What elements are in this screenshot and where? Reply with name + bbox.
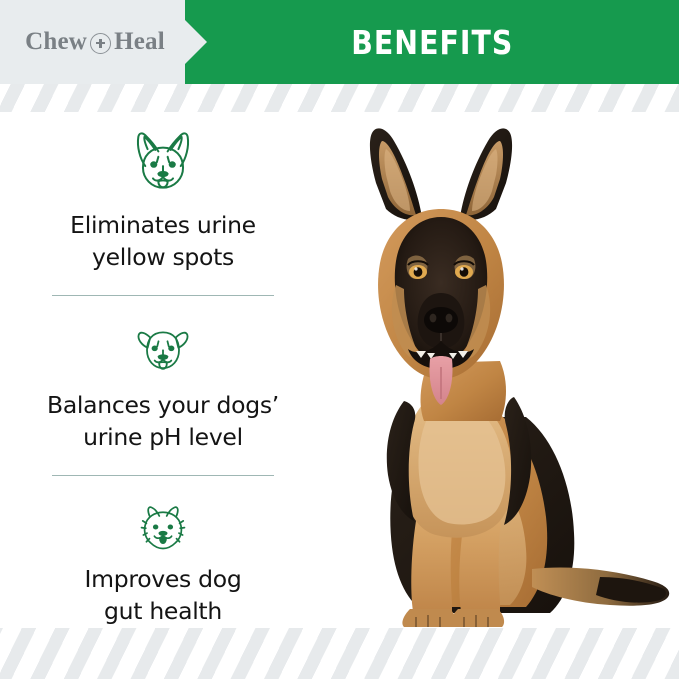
benefit-divider bbox=[52, 295, 274, 296]
benefit-item: Balances your dogs’ urine pH level bbox=[12, 318, 314, 476]
dog-illustration bbox=[300, 117, 679, 628]
benefit-line-1: Improves dog bbox=[85, 565, 242, 593]
logo-word-heal: Heal bbox=[114, 28, 165, 56]
benefit-line-2: urine pH level bbox=[83, 423, 243, 451]
stripe-band-bottom bbox=[0, 628, 679, 679]
benefit-text: Eliminates urine yellow spots bbox=[12, 210, 314, 274]
brand-logo: Chew Heal bbox=[0, 0, 190, 84]
benefit-line-1: Balances your dogs’ bbox=[47, 391, 279, 419]
stripe-band-top bbox=[0, 84, 679, 112]
benefit-line-2: gut health bbox=[104, 597, 222, 625]
benefit-line-2: yellow spots bbox=[92, 243, 234, 271]
benefit-text: Balances your dogs’ urine pH level bbox=[12, 390, 314, 454]
benefit-divider bbox=[52, 475, 274, 476]
logo-word-chew: Chew bbox=[25, 28, 87, 56]
benefit-text: Improves dog gut health bbox=[12, 564, 314, 628]
page-title: BENEFITS bbox=[351, 23, 513, 62]
corgi-dog-head-icon bbox=[124, 126, 202, 200]
german-shepherd-photo bbox=[300, 117, 679, 628]
benefit-item: Improves dog gut health bbox=[12, 500, 314, 628]
circled-plus-icon bbox=[90, 33, 111, 54]
benefits-banner: BENEFITS bbox=[185, 0, 679, 84]
samoyed-dog-head-icon bbox=[132, 500, 194, 554]
logo-panel: Chew Heal bbox=[0, 0, 210, 84]
header-bar: Chew Heal BENEFITS bbox=[0, 0, 679, 84]
main-content: Eliminates urine yellow spots bbox=[0, 112, 679, 628]
benefit-item: Eliminates urine yellow spots bbox=[12, 126, 314, 296]
benefits-list: Eliminates urine yellow spots bbox=[12, 126, 314, 628]
terrier-dog-head-icon bbox=[131, 318, 195, 380]
benefits-infographic: Chew Heal BENEFITS bbox=[0, 0, 679, 679]
benefit-line-1: Eliminates urine bbox=[70, 211, 256, 239]
